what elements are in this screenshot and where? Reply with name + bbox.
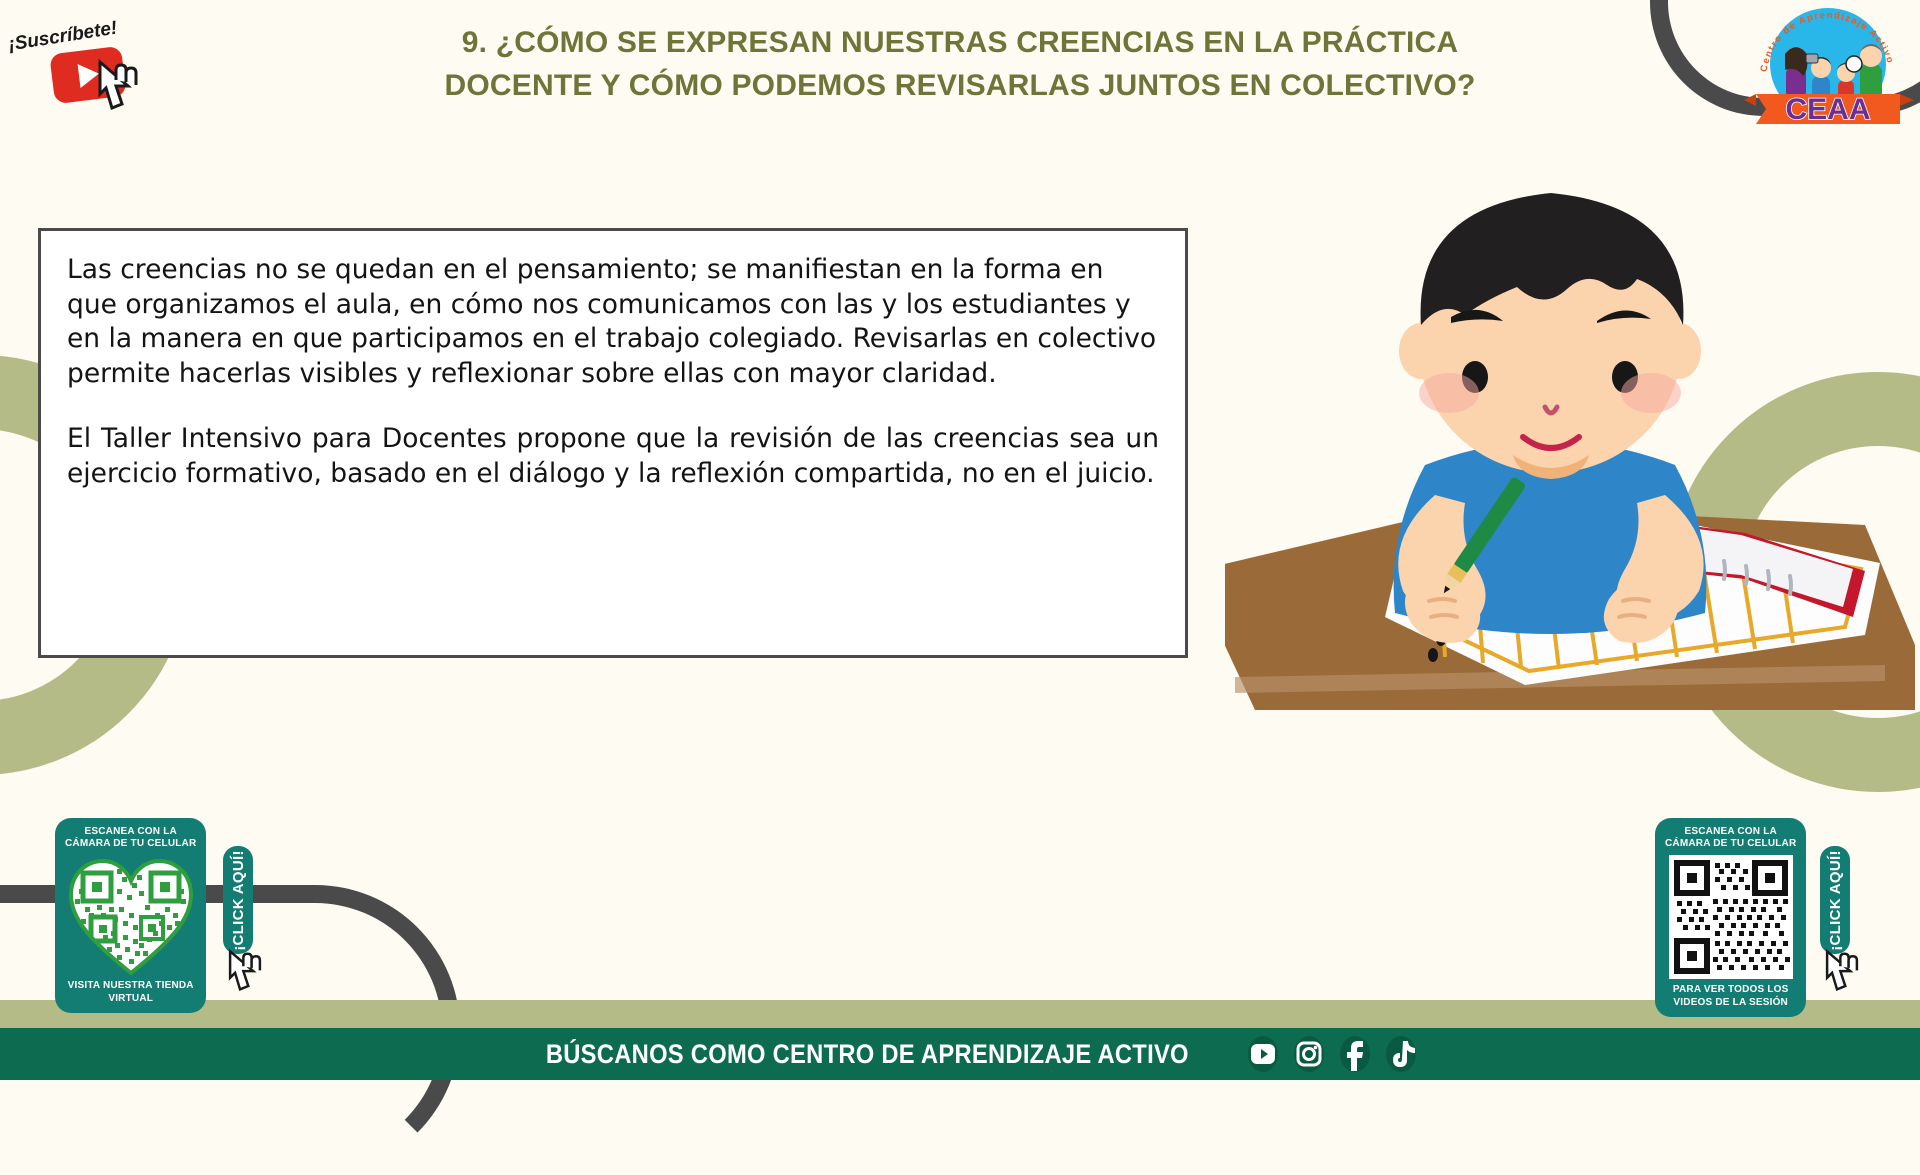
qr-caption-top: ESCANEA CON LA CÁMARA DE TU CELULAR: [65, 826, 196, 850]
page-title: 9. ¿CÓMO SE EXPRESAN NUESTRAS CREENCIAS …: [300, 22, 1620, 107]
qr-caption-bottom: PARA VER TODOS LOS VIDEOS DE LA SESIÓN: [1673, 984, 1789, 1008]
qr-code-heart-store[interactable]: [67, 855, 195, 975]
content-paragraph-1: Las creencias no se quedan en el pensami…: [67, 253, 1159, 392]
footer-bar: BÚSCANOS COMO CENTRO DE APRENDIZAJE ACTI…: [0, 1028, 1920, 1080]
click-here-tab-label: ¡CLICK AQUÍ!: [1827, 850, 1844, 951]
qr-card-store[interactable]: ESCANEA CON LA CÁMARA DE TU CELULAR: [55, 818, 206, 1013]
footer-text: BÚSCANOS COMO CENTRO DE APRENDIZAJE ACTI…: [546, 1039, 1189, 1070]
ceaa-logo[interactable]: Centro de Aprendizaje Activo CEAA: [1742, 2, 1914, 130]
ceaa-logo-acronym: CEAA: [1785, 93, 1870, 126]
content-text-box: Las creencias no se quedan en el pensami…: [38, 228, 1188, 658]
click-here-tab-videos[interactable]: ¡CLICK AQUÍ!: [1820, 846, 1850, 954]
facebook-icon[interactable]: [1338, 1035, 1372, 1073]
qr-badge-store[interactable]: ¡CLICK AQUÍ! ESCANEA CON LA CÁMARA DE TU…: [55, 818, 206, 1013]
boy-writing-at-desk-illustration: [1225, 165, 1915, 725]
qr-badge-videos[interactable]: ¡CLICK AQUÍ! ESCANEA CON LA CÁMARA DE TU…: [1655, 818, 1806, 1017]
instagram-icon[interactable]: [1292, 1035, 1326, 1073]
qr-caption-top: ESCANEA CON LA CÁMARA DE TU CELULAR: [1665, 826, 1796, 850]
qr-code-square-videos[interactable]: [1669, 855, 1793, 979]
pointer-hand-icon: [92, 58, 144, 116]
click-here-tab-store[interactable]: ¡CLICK AQUÍ!: [223, 846, 253, 954]
tiktok-icon[interactable]: [1384, 1035, 1418, 1073]
pointer-hand-icon: [1820, 948, 1864, 996]
qr-caption-bottom: VISITA NUESTRA TIENDA VIRTUAL: [68, 980, 194, 1004]
click-here-tab-label: ¡CLICK AQUÍ!: [230, 850, 247, 951]
subscribe-badge[interactable]: ¡Suscríbete!: [6, 8, 156, 120]
pointer-hand-icon: [223, 948, 267, 996]
youtube-icon[interactable]: [1246, 1035, 1280, 1073]
sage-band-decoration: [0, 1000, 1920, 1028]
page-title-line-1: 9. ¿CÓMO SE EXPRESAN NUESTRAS CREENCIAS …: [300, 22, 1620, 65]
page-title-line-2: DOCENTE Y CÓMO PODEMOS REVISARLAS JUNTOS…: [300, 65, 1620, 108]
social-links: [1246, 1035, 1418, 1073]
content-paragraph-2: El Taller Intensivo para Docentes propon…: [67, 422, 1159, 491]
qr-card-videos[interactable]: ESCANEA CON LA CÁMARA DE TU CELULAR: [1655, 818, 1806, 1017]
